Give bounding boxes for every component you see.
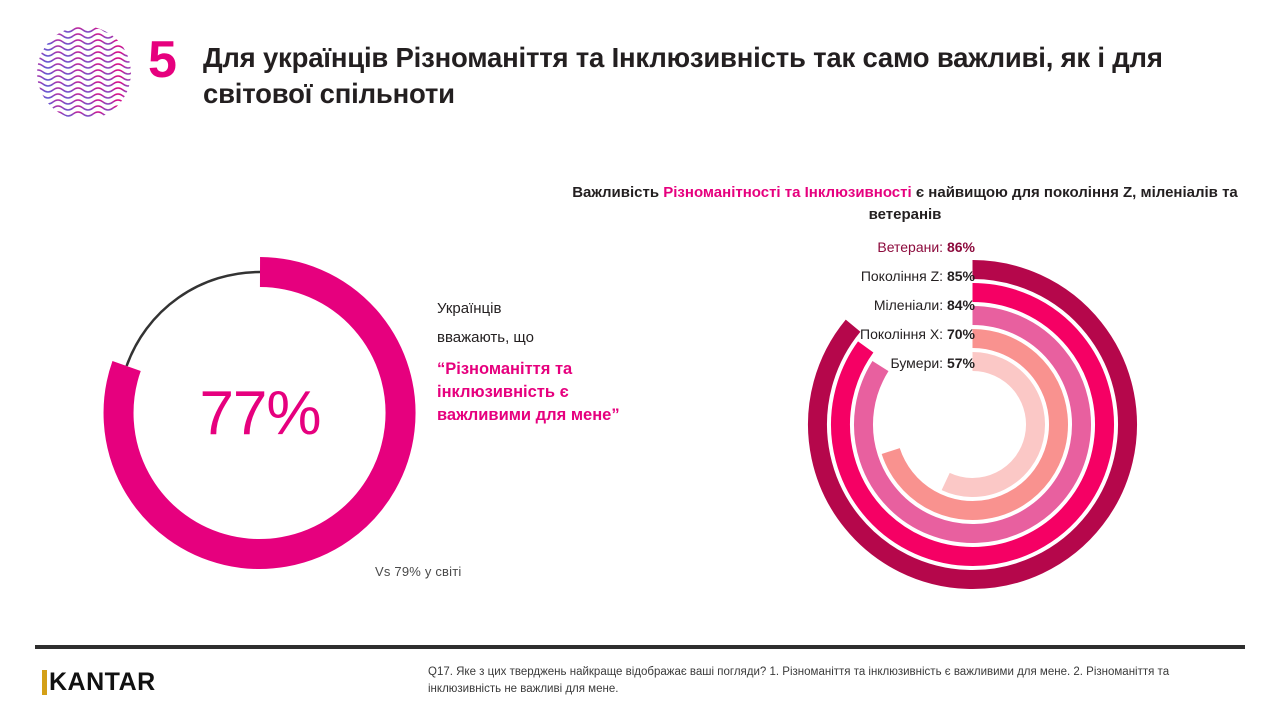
left-stat-copy: Українців вважають, що “Різноманіття та …	[437, 297, 637, 428]
kantar-logo: KANTAR	[42, 668, 156, 697]
logo-text: KANTAR	[49, 668, 156, 697]
comparison-note: Vs 79% у світі	[375, 564, 461, 579]
radial-chart-labels: Ветерани: 86% Покоління Z: 85% Міленіали…	[760, 240, 975, 385]
logo-accent-bar	[42, 670, 47, 695]
stat-line-1: Українців	[437, 297, 637, 320]
radial-label-boomers-value: 57%	[947, 355, 975, 371]
wavy-circle-icon	[37, 26, 131, 120]
radial-label-genx-text: Покоління X:	[860, 326, 947, 342]
donut-value-label: 77%	[95, 248, 425, 578]
page-title: Для українців Різноманіття та Інклюзивні…	[203, 40, 1243, 113]
subtitle-part-1: Важливість	[572, 184, 663, 201]
radial-label-veterans-text: Ветерани:	[877, 239, 947, 255]
radial-label-boomers-text: Бумери:	[890, 355, 947, 371]
subtitle-highlight: Різноманітності та Інклюзивності	[663, 184, 911, 201]
stat-line-2: вважають, що	[437, 326, 637, 349]
radial-label-genz-text: Покоління Z:	[861, 268, 947, 284]
step-number: 5	[148, 34, 176, 86]
radial-label-veterans: Ветерани: 86%	[760, 240, 975, 254]
radial-label-genz-value: 85%	[947, 268, 975, 284]
radial-label-millennials: Міленіали: 84%	[760, 298, 975, 312]
radial-label-genx: Покоління X: 70%	[760, 327, 975, 341]
radial-label-genz: Покоління Z: 85%	[760, 269, 975, 283]
radial-label-genx-value: 70%	[947, 326, 975, 342]
stat-quote: “Різноманіття та інклюзивність є важливи…	[437, 358, 637, 428]
subtitle-part-2: є найвищою для покоління Z, міленіалів т…	[869, 184, 1238, 223]
slide-root: 5 Для українців Різноманіття та Інклюзив…	[0, 0, 1280, 720]
donut-chart-77: 77%	[95, 248, 425, 578]
radial-label-veterans-value: 86%	[947, 239, 975, 255]
radial-label-boomers: Бумери: 57%	[760, 356, 975, 370]
radial-chart-subtitle: Важливість Різноманітності та Інклюзивно…	[560, 182, 1250, 226]
footer-divider	[35, 645, 1245, 649]
slide-header: 5 Для українців Різноманіття та Інклюзив…	[0, 0, 1280, 140]
footnote: Q17. Яке з цих тверджень найкраще відобр…	[428, 664, 1228, 699]
radial-label-millennials-value: 84%	[947, 297, 975, 313]
radial-label-millennials-text: Міленіали:	[874, 297, 947, 313]
